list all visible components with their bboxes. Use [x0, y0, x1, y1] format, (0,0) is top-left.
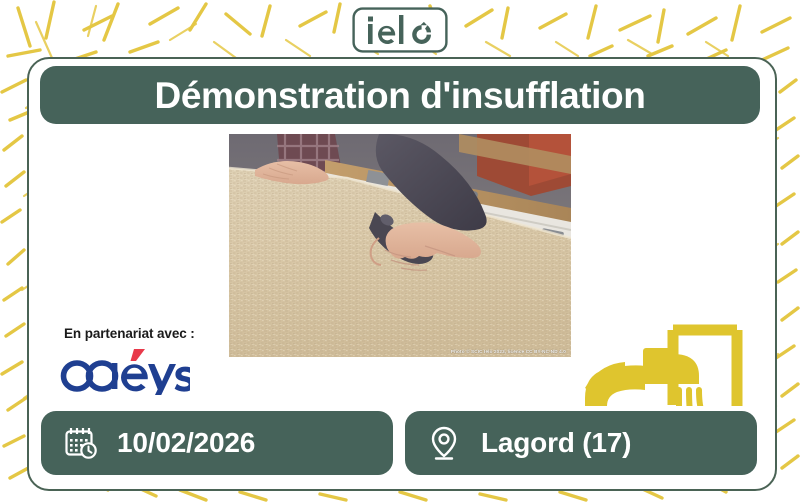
event-photo: Photo © SCIC Ielo 2023, licence CC BY-NC… — [229, 134, 571, 357]
location-badge[interactable]: Lagord (17) — [405, 411, 757, 475]
location-value: Lagord (17) — [481, 427, 631, 459]
date-badge[interactable]: 10/02/2026 — [41, 411, 393, 475]
partner-block: En partenariat avec : odéys — [60, 326, 195, 395]
page-title: Démonstration d'insufflation — [155, 77, 646, 114]
partner-label: En partenariat avec : — [64, 326, 195, 341]
event-photo-image — [229, 134, 571, 357]
event-title-banner: Démonstration d'insufflation — [40, 66, 760, 124]
map-pin-icon — [427, 425, 463, 461]
odeys-logo: odéys — [60, 347, 190, 395]
ielo-logo: ielo — [352, 7, 448, 53]
date-value: 10/02/2026 — [117, 427, 255, 459]
calendar-clock-icon — [63, 425, 99, 461]
photo-credit: Photo © SCIC Ielo 2023, licence CC BY-NC… — [451, 349, 566, 354]
